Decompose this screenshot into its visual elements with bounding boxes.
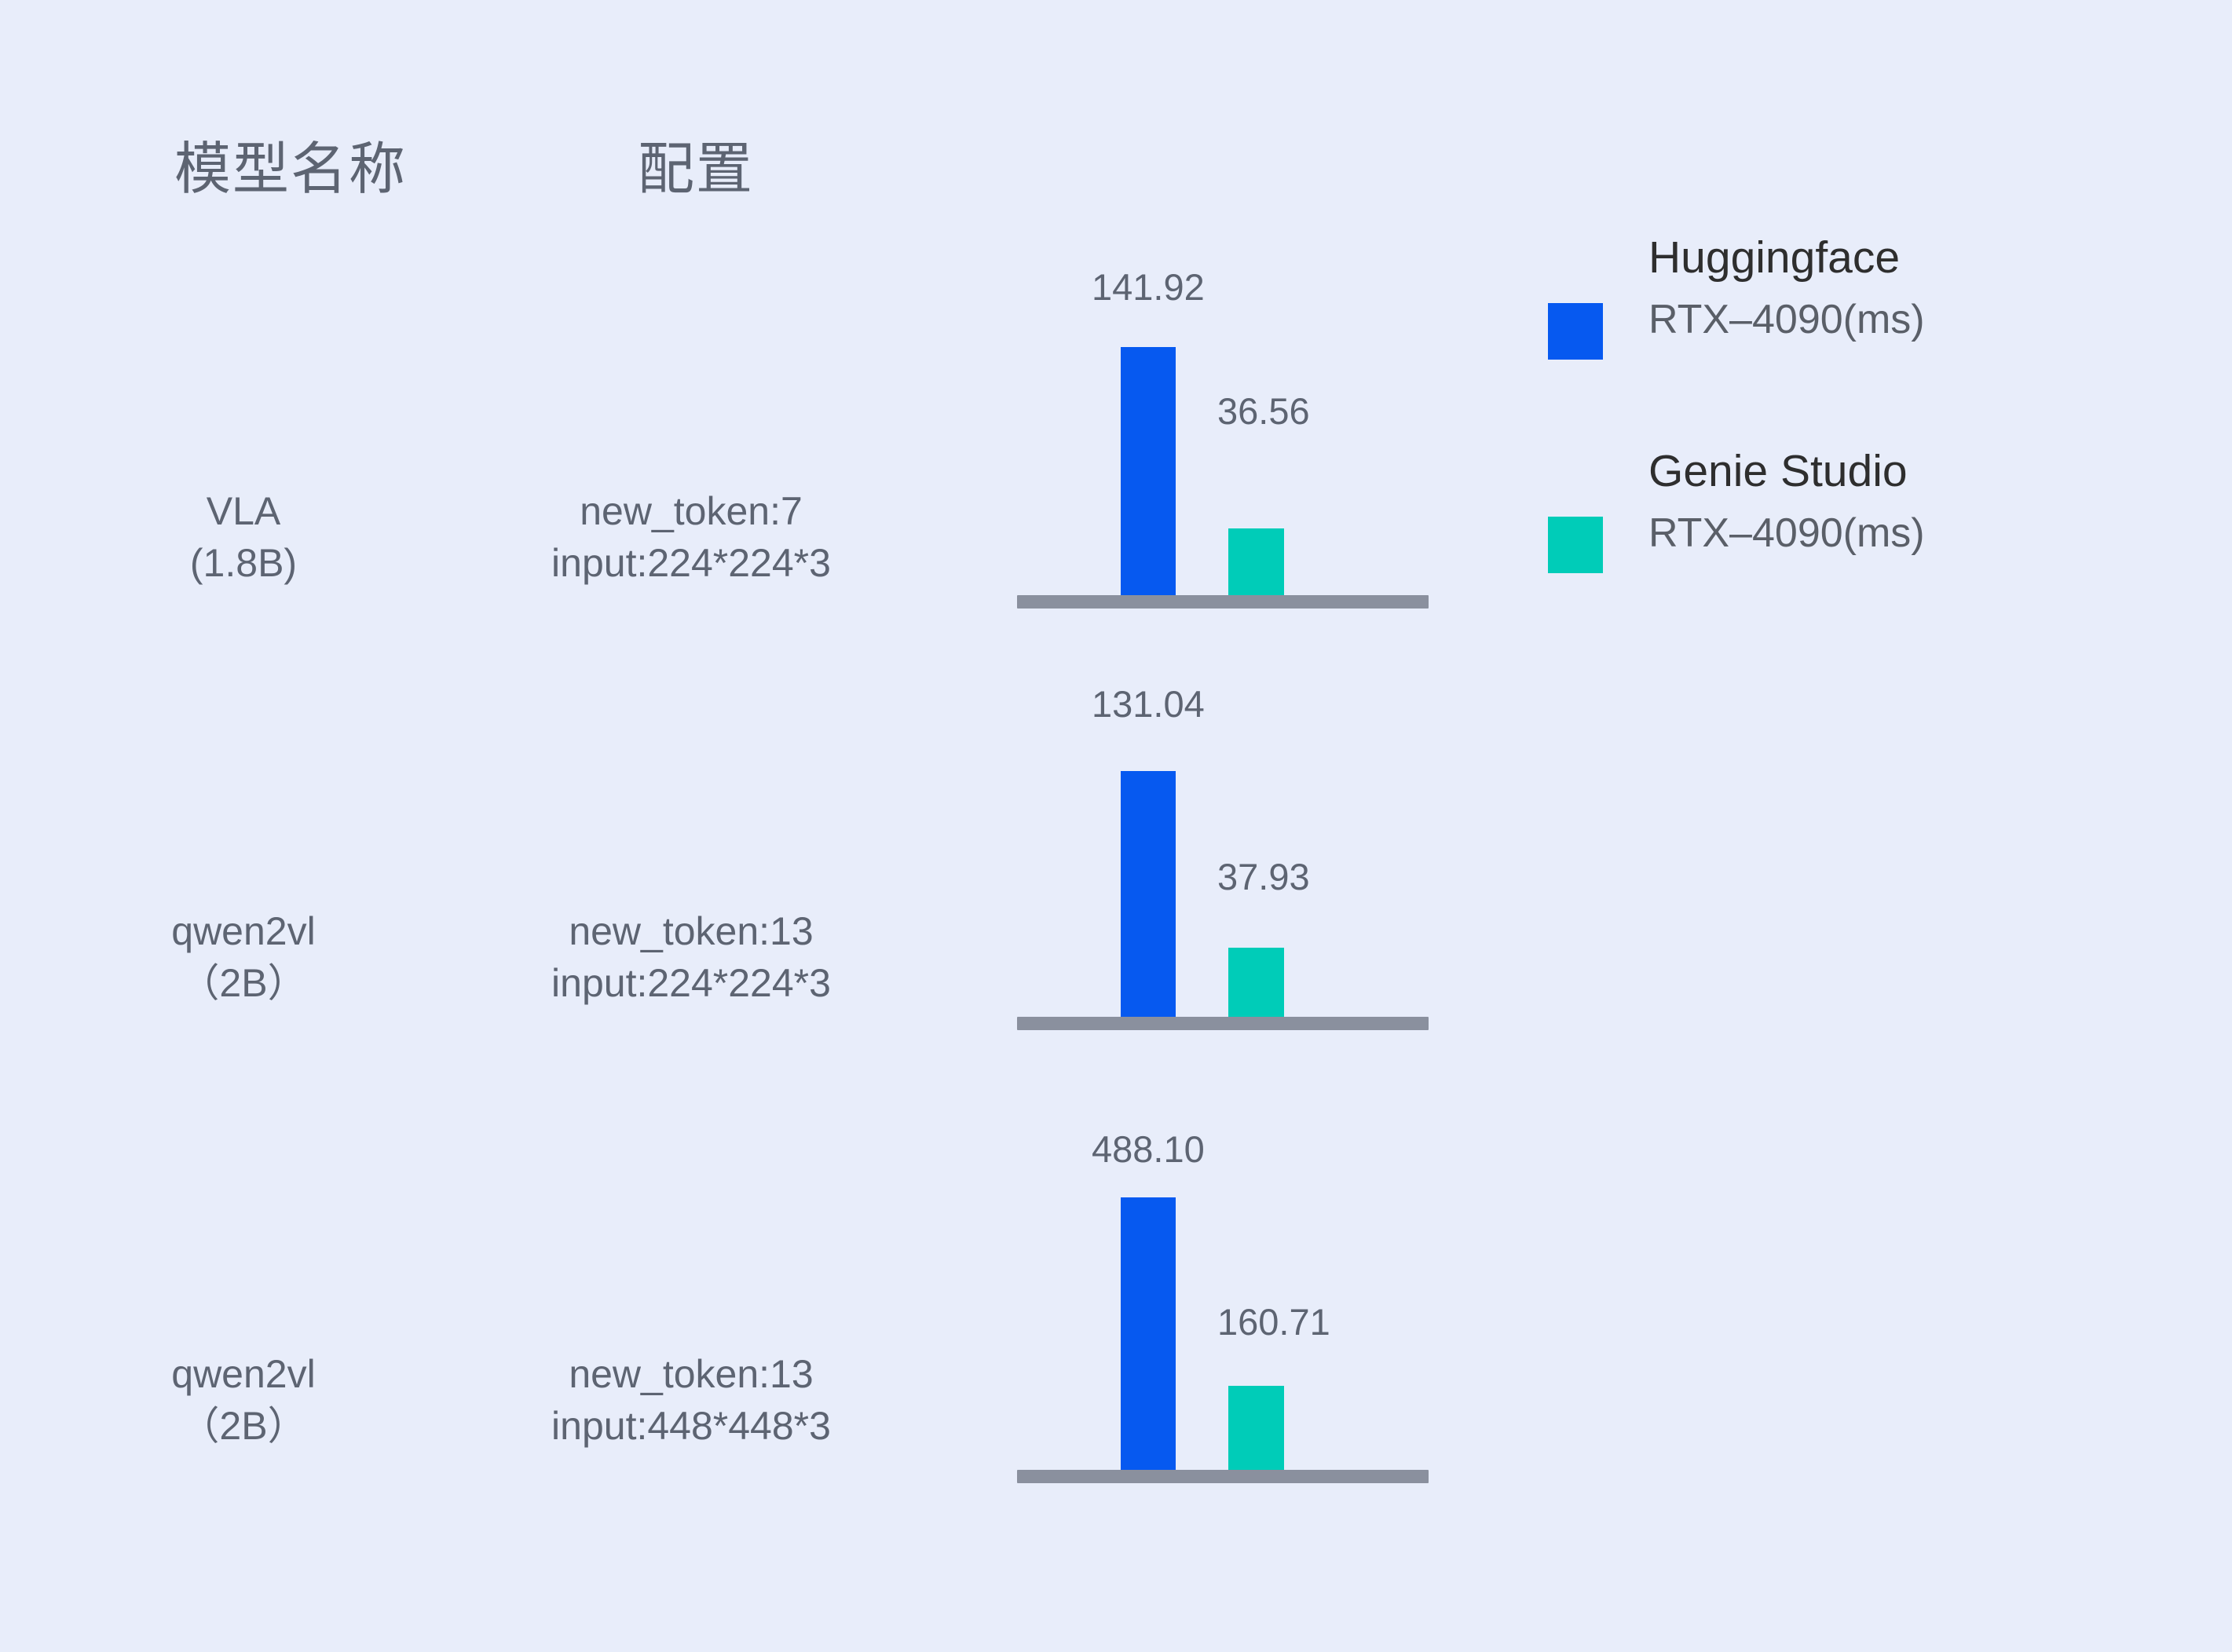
chart-row: qwen2vl （2B） new_token:13 input:448*448*… (0, 1099, 2232, 1523)
huggingface-bar[interactable] (1121, 771, 1176, 1021)
row-config-label: new_token:13 input:224*224*3 (440, 905, 942, 1009)
bar-group (1017, 236, 1433, 599)
row-model-label-line2: （2B） (86, 1400, 401, 1452)
row-plot: 488.10 160.71 (1017, 1099, 1433, 1484)
legend-subtitle: RTX–4090(ms) (1648, 513, 2135, 554)
huggingface-bar[interactable] (1121, 347, 1176, 599)
bar-group (1017, 660, 1433, 1021)
legend-title: Huggingface (1648, 236, 2135, 280)
column-header-model-name: 模型名称 (174, 141, 407, 198)
row-config-label-line2: input:224*224*3 (440, 957, 942, 1009)
row-plot: 131.04 37.93 (1017, 660, 1433, 1030)
genie-bar[interactable] (1228, 528, 1284, 599)
genie-bar[interactable] (1228, 948, 1284, 1021)
row-model-label-line1: VLA (86, 485, 401, 537)
baseline-axis (1017, 1017, 1429, 1030)
baseline-axis (1017, 595, 1429, 609)
legend-subtitle: RTX–4090(ms) (1648, 299, 2135, 340)
column-header-config: 配置 (638, 141, 754, 198)
chart-row: qwen2vl （2B） new_token:13 input:224*224*… (0, 660, 2232, 1068)
legend-title: Genie Studio (1648, 449, 2135, 494)
chart-canvas: 模型名称 配置 VLA (1.8B) new_token:7 input:224… (0, 0, 2232, 1652)
legend-text-block: Huggingface RTX–4090(ms) (1648, 236, 2135, 340)
legend-swatch-icon (1548, 517, 1603, 573)
row-config-label-line1: new_token:13 (440, 1348, 942, 1400)
bar-group (1017, 1099, 1433, 1478)
row-model-label-line1: qwen2vl (86, 905, 401, 957)
genie-bar[interactable] (1228, 1386, 1284, 1478)
legend-text-block: Genie Studio RTX–4090(ms) (1648, 449, 2135, 554)
baseline-axis (1017, 1470, 1429, 1483)
row-plot: 141.92 36.56 (1017, 236, 1433, 609)
row-config-label-line2: input:224*224*3 (440, 537, 942, 589)
huggingface-bar[interactable] (1121, 1197, 1176, 1478)
row-model-label: qwen2vl （2B） (86, 905, 401, 1009)
row-model-label-line2: （2B） (86, 957, 401, 1009)
row-config-label: new_token:7 input:224*224*3 (440, 485, 942, 589)
row-model-label: VLA (1.8B) (86, 485, 401, 589)
row-config-label: new_token:13 input:448*448*3 (440, 1348, 942, 1452)
row-model-label-line2: (1.8B) (86, 537, 401, 589)
row-config-label-line1: new_token:7 (440, 485, 942, 537)
row-config-label-line1: new_token:13 (440, 905, 942, 957)
row-model-label-line1: qwen2vl (86, 1348, 401, 1400)
row-model-label: qwen2vl （2B） (86, 1348, 401, 1452)
legend-swatch-icon (1548, 303, 1603, 360)
row-config-label-line2: input:448*448*3 (440, 1400, 942, 1452)
